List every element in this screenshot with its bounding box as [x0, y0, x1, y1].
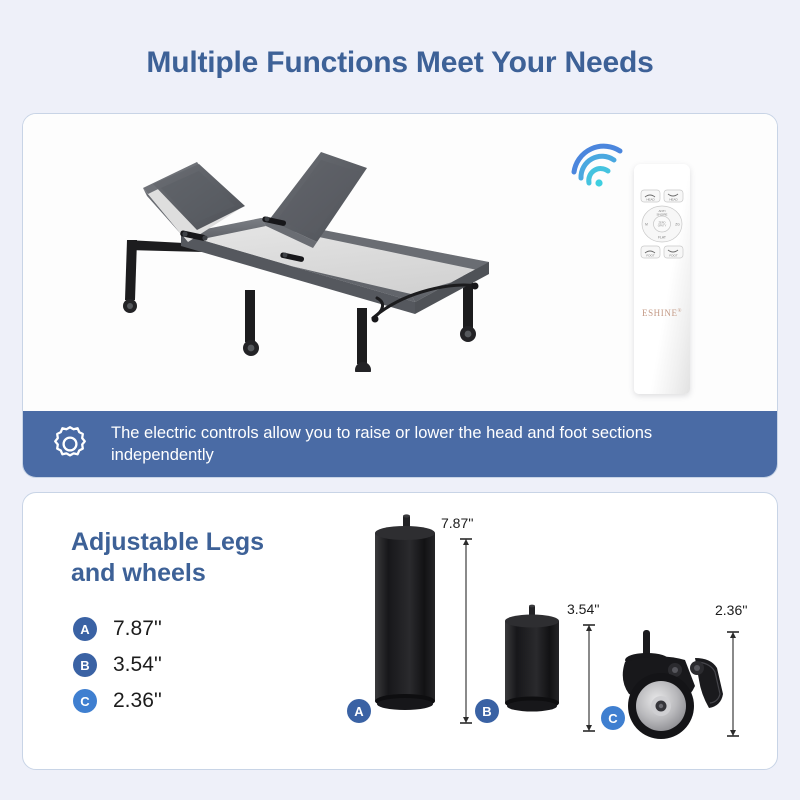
leg-item-a: 7.87'' A	[353, 513, 488, 753]
brand-text: ESHINE	[642, 308, 678, 318]
remote-button-pad[interactable]: HEAD HEAD ANTI SNORE FLAT M	[638, 188, 686, 260]
function-dial: ANTI SNORE FLAT M ZG ZERO GRVTY	[642, 206, 682, 242]
legend-value-a: 7.87''	[113, 617, 162, 641]
banner-text: The electric controls allow you to raise…	[111, 422, 731, 467]
svg-text:FOOT: FOOT	[646, 253, 654, 257]
svg-text:SNORE: SNORE	[656, 212, 667, 216]
dimension-arrow-b	[581, 621, 597, 735]
svg-text:GRVTY: GRVTY	[658, 224, 667, 227]
feature-banner: The electric controls allow you to raise…	[23, 411, 777, 477]
remote-brand-label: ESHINE®	[634, 308, 690, 318]
leg-badge-b: B	[475, 699, 499, 723]
page-title: Multiple Functions Meet Your Needs	[0, 0, 800, 78]
remote-control[interactable]: HEAD HEAD ANTI SNORE FLAT M	[634, 164, 690, 394]
dimension-arrow-c	[725, 628, 741, 740]
legend-value-c: 2.36''	[113, 689, 162, 713]
svg-text:M: M	[645, 222, 648, 226]
dimension-arrow-a	[458, 535, 474, 727]
svg-text:HEAD: HEAD	[669, 197, 678, 201]
svg-text:FLAT: FLAT	[658, 236, 666, 240]
head-up-button: HEAD	[641, 190, 660, 202]
legend-value-b: 3.54''	[113, 653, 162, 677]
foot-up-button: FOOT	[641, 246, 660, 258]
legend-badge-c: C	[73, 689, 97, 713]
svg-text:HEAD: HEAD	[646, 197, 655, 201]
dimension-label-a: 7.87''	[441, 515, 474, 531]
remote-control-area: HEAD HEAD ANTI SNORE FLAT M	[518, 124, 748, 399]
legend-badge-b: B	[73, 653, 97, 677]
svg-text:ZG: ZG	[675, 222, 680, 226]
leg-badge-c: C	[601, 706, 625, 730]
trademark-symbol: ®	[678, 309, 682, 314]
legend-item-b: B 3.54''	[73, 653, 162, 677]
svg-text:FOOT: FOOT	[669, 253, 677, 257]
legend-item-c: C 2.36''	[73, 689, 162, 713]
functions-card: HEAD HEAD ANTI SNORE FLAT M	[22, 113, 778, 478]
leg-item-c: 2.36'' C	[603, 588, 763, 753]
dimension-label-c: 2.36''	[715, 602, 748, 618]
wifi-signal-icon	[568, 142, 626, 190]
legs-heading-line2: and wheels	[71, 558, 301, 589]
dimension-label-b: 3.54''	[567, 601, 600, 617]
leg-item-b: 3.54'' B	[483, 593, 608, 753]
hero-image-area: HEAD HEAD ANTI SNORE FLAT M	[23, 114, 777, 413]
legend-item-a: A 7.87''	[73, 617, 162, 641]
gear-icon	[49, 423, 91, 465]
leg-badge-a: A	[347, 699, 371, 723]
head-down-button: HEAD	[664, 190, 683, 202]
legend-badge-a: A	[73, 617, 97, 641]
legs-legend: A 7.87'' B 3.54'' C 2.36''	[73, 617, 162, 725]
legs-heading: Adjustable Legs and wheels	[71, 527, 301, 590]
legs-heading-line1: Adjustable Legs	[71, 527, 301, 558]
adjustable-legs-card: Adjustable Legs and wheels A 7.87'' B 3.…	[22, 492, 778, 770]
adjustable-bed-image	[85, 122, 505, 372]
foot-down-button: FOOT	[664, 246, 683, 258]
